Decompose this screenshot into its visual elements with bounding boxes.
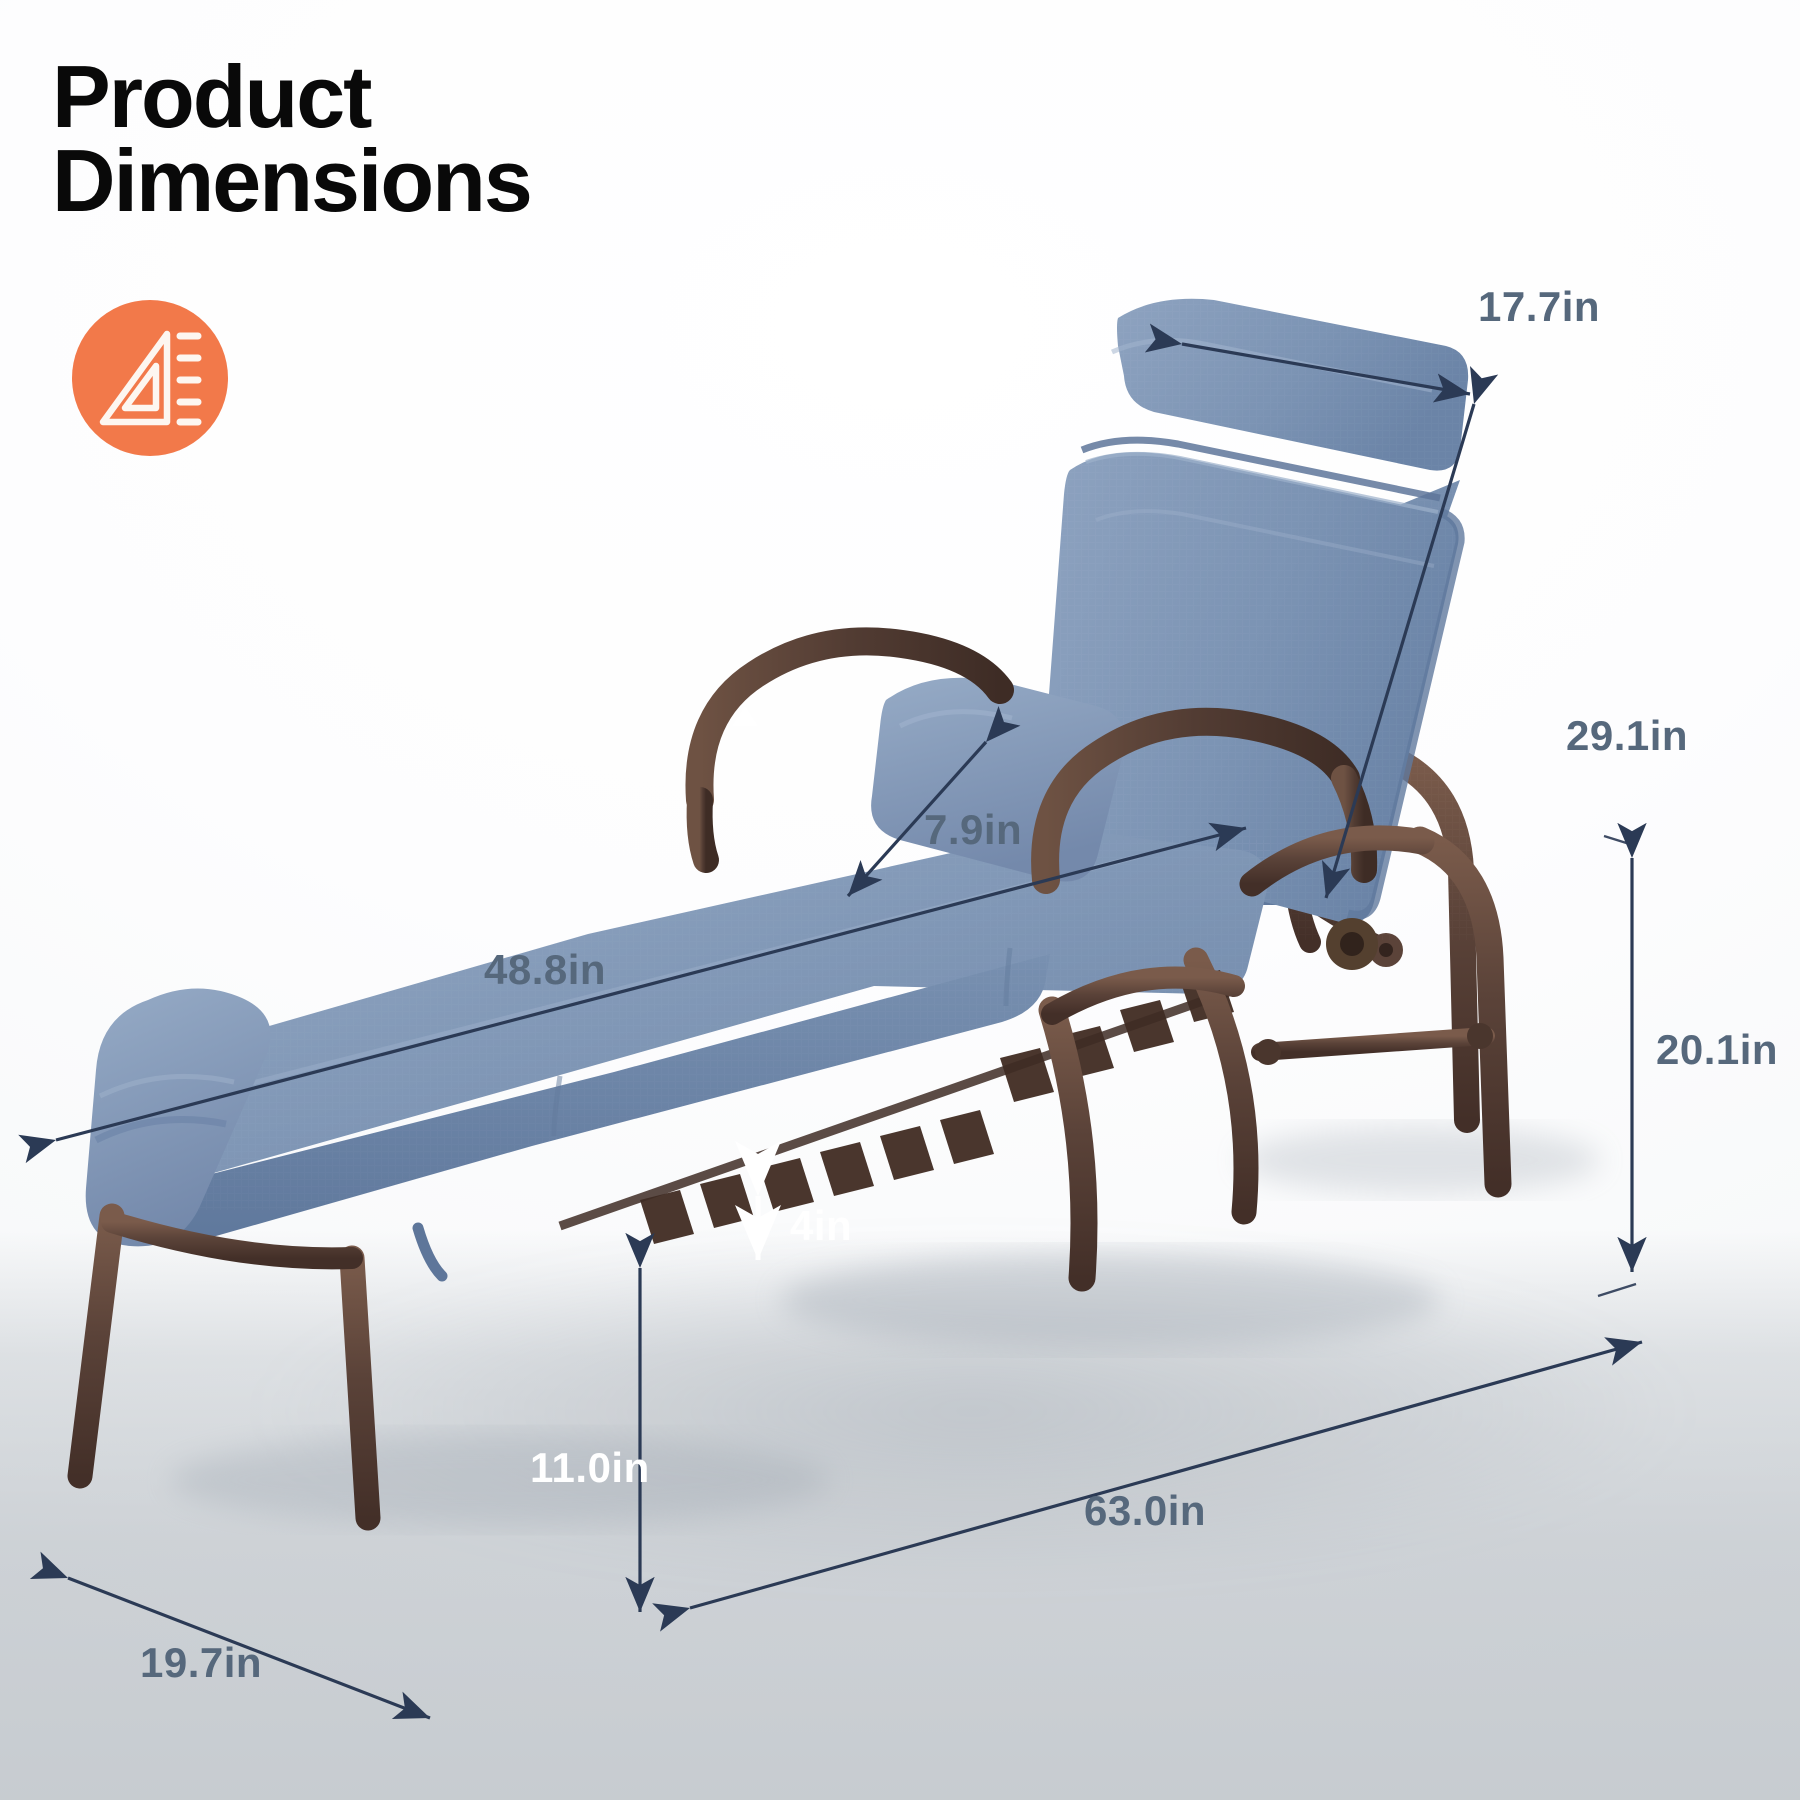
dim-label-overall-length: 63.0in — [1084, 1487, 1206, 1535]
cushion-strap — [418, 1228, 442, 1276]
leg-front-right — [352, 1258, 368, 1518]
product-dimensions-infographic: Product Dimensions — [0, 0, 1800, 1800]
dim-label-backrest-width: 17.7in — [1478, 283, 1600, 331]
dim-label-armrest-depth: 7.9in — [924, 806, 1022, 854]
watermark-triangle-icon — [732, 706, 758, 726]
seat-fabric-texture — [140, 840, 1270, 1210]
dim-label-seat-length: 48.8in — [484, 946, 606, 994]
rear-cross-brace — [1260, 1036, 1486, 1052]
dim-label-cushion-thickness: 4in — [790, 1202, 852, 1250]
leg-front-left — [80, 1216, 112, 1476]
dim-label-overall-width: 19.7in — [140, 1639, 262, 1687]
dim-label-backrest-height: 29.1in — [1566, 712, 1688, 760]
product-illustration — [0, 0, 1800, 1800]
dim-label-seatback-height: 20.1in — [1656, 1026, 1778, 1074]
dim-label-seat-height: 11.0in — [530, 1444, 650, 1492]
